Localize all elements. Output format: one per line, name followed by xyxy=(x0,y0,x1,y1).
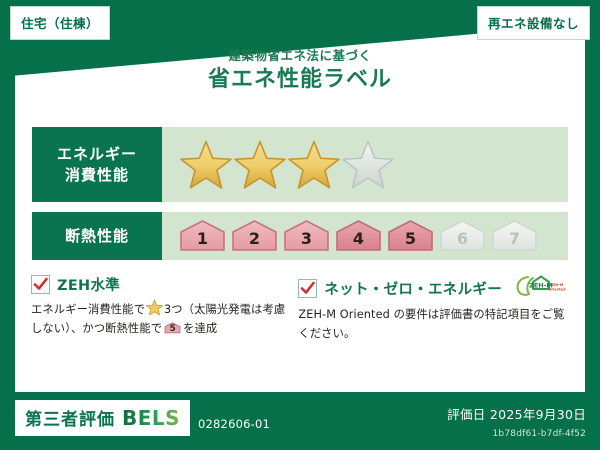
title-main: 省エネ性能ラベル xyxy=(0,65,600,95)
star-filled-icon xyxy=(288,139,340,191)
grade-house-1: 1 xyxy=(178,219,227,253)
bels-number: 0282606-01 xyxy=(198,417,270,431)
footer: 第三者評価 BELS 0282606-01 評価日 2025年9月30日 1b7… xyxy=(0,392,600,450)
star-inline-icon xyxy=(146,299,163,316)
grade-house-label: 4 xyxy=(353,229,364,253)
bels-badge: 第三者評価 BELS xyxy=(15,400,190,436)
energy-performance-label: 建築物省エネ法に基づく 省エネ性能ラベル 住宅（住棟） 再エネ設備なし エネルギ… xyxy=(0,0,600,450)
row-label-energy: エネルギー 消費性能 xyxy=(32,127,162,202)
content-card: エネルギー 消費性能 xyxy=(15,110,585,392)
checkbox-net-zero-energy[interactable] xyxy=(298,279,317,298)
note-net-zero-energy: ネット・ゼロ・エネルギー ZEH-M ZEH-M Oriented ZEH-M … xyxy=(298,274,569,343)
grade-house-label: 6 xyxy=(457,229,468,253)
grade-house-label: 2 xyxy=(249,229,260,253)
star-empty-icon xyxy=(342,139,394,191)
grade-house-label: 5 xyxy=(405,229,416,253)
row-label-insulation: 断熱性能 xyxy=(32,212,162,260)
bels-en-label: BELS xyxy=(122,406,180,430)
tag-building-type: 住宅（住棟） xyxy=(10,6,110,40)
star-rating xyxy=(162,127,568,202)
row-label-energy-line2: 消費性能 xyxy=(65,165,129,185)
note-nze-header: ネット・ゼロ・エネルギー ZEH-M ZEH-M Oriented xyxy=(298,274,569,302)
checkbox-zeh-standard[interactable] xyxy=(31,275,50,294)
row-label-energy-line1: エネルギー xyxy=(57,144,137,164)
note-zeh-standard: ZEH水準 エネルギー消費性能で 3つ（太陽光発電は考慮しない）、かつ断熱性能で… xyxy=(31,274,292,343)
grade-house-2: 2 xyxy=(230,219,279,253)
note-zeh-title: ZEH水準 xyxy=(57,274,120,295)
grade-house-7: 7 xyxy=(490,219,539,253)
star-filled-icon xyxy=(180,139,232,191)
title-subtitle: 建築物省エネ法に基づく xyxy=(0,48,600,64)
zeh-m-logo-sub2: Oriented xyxy=(548,288,566,292)
page-title: 建築物省エネ法に基づく 省エネ性能ラベル xyxy=(0,48,600,95)
row-insulation-performance: 断熱性能 1 xyxy=(32,212,568,260)
note-zeh-body-pre: エネルギー消費性能で xyxy=(31,303,145,316)
zeh-m-logo-sub1: ZEH-M xyxy=(551,283,564,287)
zeh-m-logo-icon: ZEH-M ZEH-M Oriented xyxy=(513,274,569,302)
row-energy-performance: エネルギー 消費性能 xyxy=(32,127,568,202)
note-nze-title: ネット・ゼロ・エネルギー xyxy=(324,278,502,299)
insulation-grade-scale: 1 2 3 4 xyxy=(162,212,568,260)
evaluation-hash: 1b78df61-b7df-4f52 xyxy=(493,429,587,439)
grade-house-label: 7 xyxy=(509,229,520,253)
grade-badge-inline-label: 5 xyxy=(164,322,181,337)
evaluation-date: 評価日 2025年9月30日 xyxy=(447,404,586,423)
note-zeh-header: ZEH水準 xyxy=(31,274,292,295)
note-zeh-body: エネルギー消費性能で 3つ（太陽光発電は考慮しない）、かつ断熱性能で 5を達成 xyxy=(31,299,292,338)
tag-renewable-equipment: 再エネ設備なし xyxy=(477,6,590,40)
star-filled-icon xyxy=(234,139,286,191)
grade-house-6: 6 xyxy=(438,219,487,253)
row-label-insulation-text: 断熱性能 xyxy=(65,226,129,246)
note-nze-body: ZEH-M Oriented の要件は評価書の特記項目をご覧ください。 xyxy=(298,306,569,343)
notes-section: ZEH水準 エネルギー消費性能で 3つ（太陽光発電は考慮しない）、かつ断熱性能で… xyxy=(31,274,569,343)
grade-house-3: 3 xyxy=(282,219,331,253)
grade-house-4: 4 xyxy=(334,219,383,253)
check-icon xyxy=(300,281,315,296)
grade-badge-inline: 5 xyxy=(164,321,181,335)
grade-house-label: 3 xyxy=(301,229,312,253)
grade-house-5: 5 xyxy=(386,219,435,253)
check-icon xyxy=(33,277,48,292)
grade-house-label: 1 xyxy=(197,229,208,253)
note-zeh-body-post: を達成 xyxy=(183,322,217,335)
bels-jp-label: 第三者評価 xyxy=(25,405,115,430)
